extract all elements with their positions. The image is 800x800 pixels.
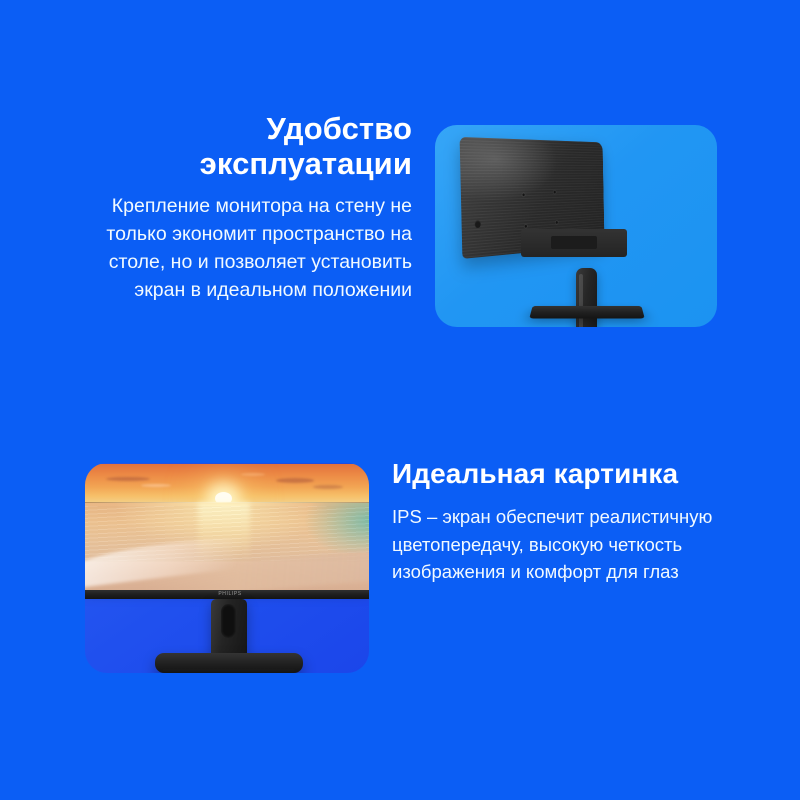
promo-poster: Удобство эксплуатации Крепление монитора…: [0, 0, 800, 800]
monitor-front-illustration: PHILIPS: [85, 463, 369, 673]
picture-body: IPS – экран обеспечит реалистичную цвето…: [392, 503, 742, 585]
stand-neck-highlight: [579, 274, 583, 327]
convenience-text-block: Удобство эксплуатации Крепление монитора…: [60, 112, 412, 304]
convenience-body: Крепление монитора на стену не только эк…: [60, 193, 412, 304]
vesa-hole: [554, 191, 556, 194]
stand-base-edge: [163, 669, 295, 673]
monitor-front-card: PHILIPS: [85, 463, 369, 673]
picture-headline: Идеальная картинка: [392, 458, 742, 489]
vesa-hole: [522, 193, 524, 196]
stand-neck: [211, 599, 247, 661]
convenience-headline: Удобство эксплуатации: [60, 112, 412, 181]
monitor-back-card: [435, 125, 717, 327]
stand-neck-slot: [221, 604, 236, 638]
philips-logo: PHILIPS: [213, 591, 247, 598]
cloud: [106, 477, 150, 481]
stand-bracket-slot: [551, 236, 597, 249]
monitor-back-illustration: [435, 125, 717, 327]
stand-bracket: [521, 229, 627, 257]
monitor-screen-beach-sunset: [85, 464, 369, 590]
cloud: [241, 473, 265, 476]
picture-text-block: Идеальная картинка IPS – экран обеспечит…: [392, 458, 742, 585]
stand-base: [529, 306, 644, 319]
cloud: [276, 478, 314, 483]
